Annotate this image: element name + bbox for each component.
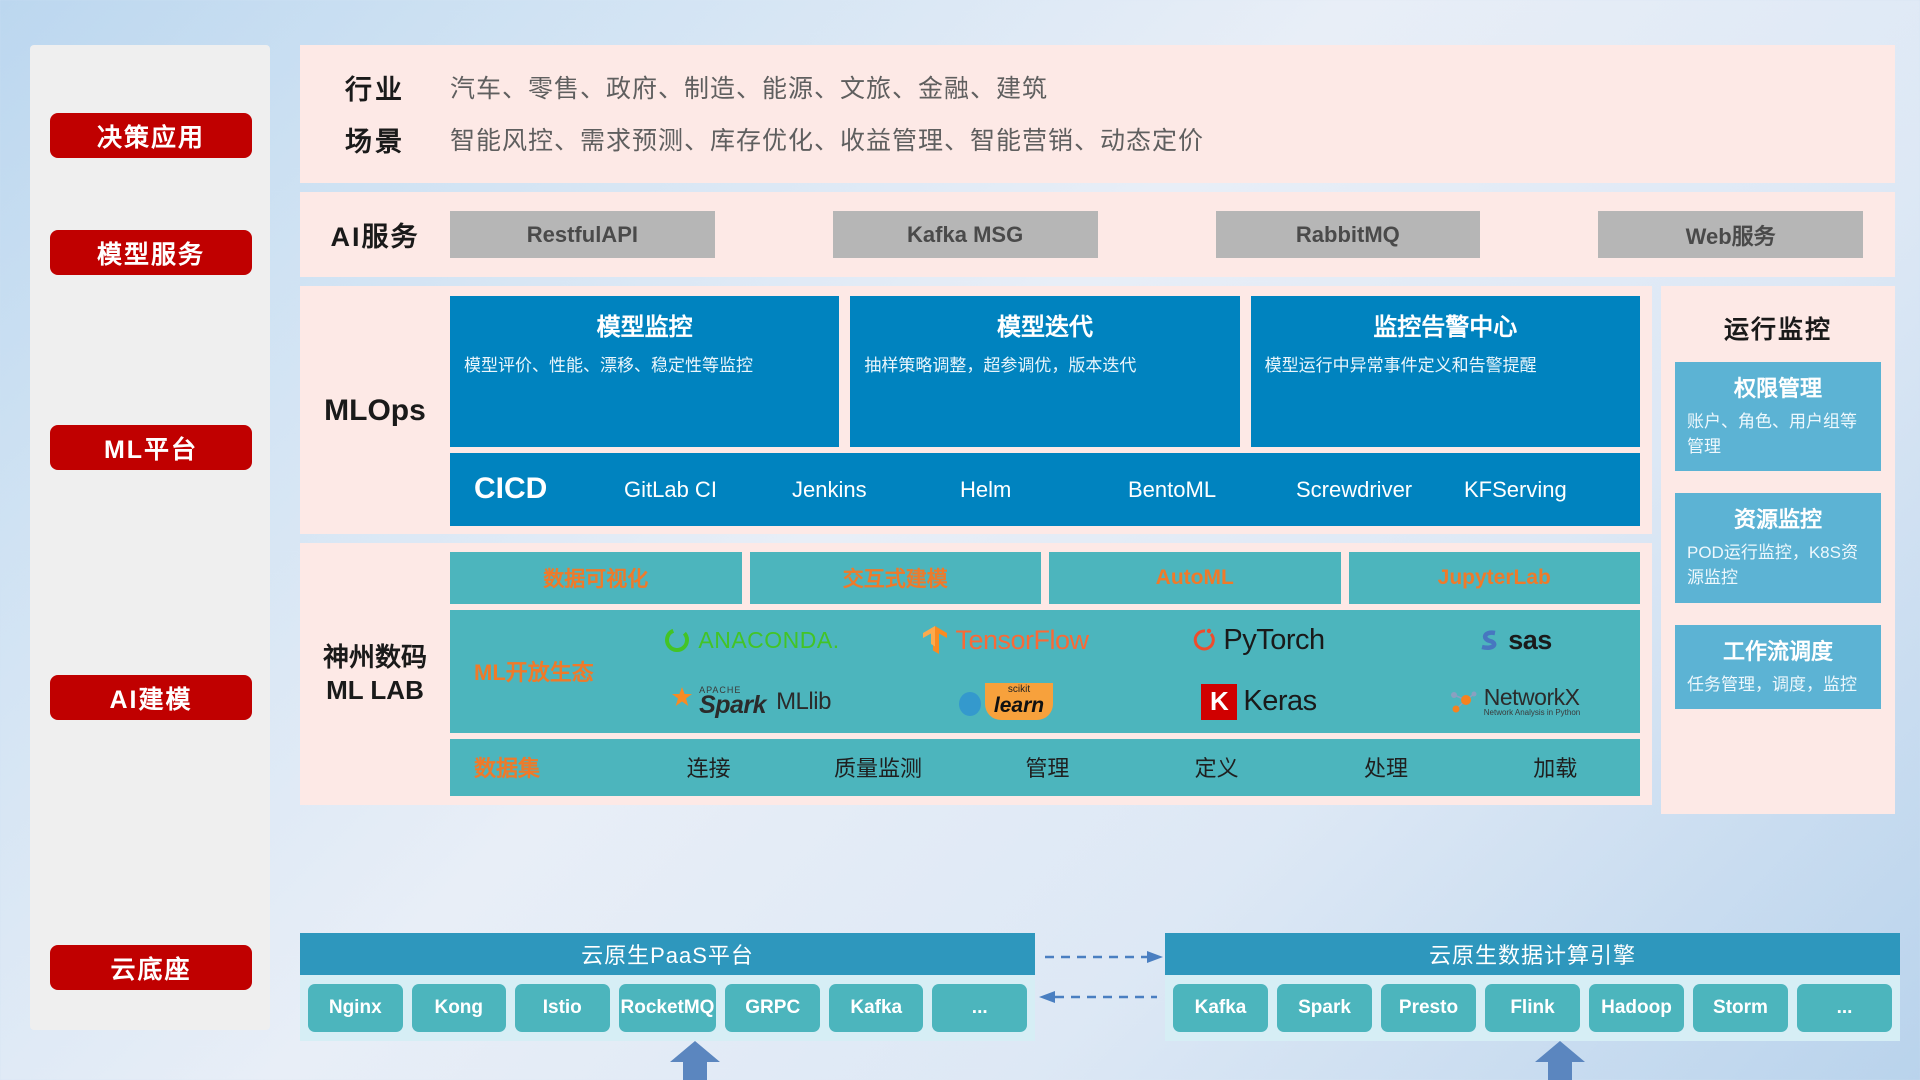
card-title: 模型迭代 (864, 307, 1225, 342)
networkx-logo: NetworkX Network Analysis in Python (1446, 686, 1581, 717)
dataset-item-list: 连接 质量监测 管理 定义 处理 加载 (624, 751, 1640, 783)
stage-pill-ai-modeling[interactable]: AI建模 (50, 675, 252, 720)
paas-title: 云原生PaaS平台 (300, 933, 1035, 975)
card-desc: 模型评价、性能、漂移、稳定性等监控 (464, 354, 825, 379)
rail-card-resource-monitoring[interactable]: 资源监控 POD运行监控，K8S资源监控 (1675, 493, 1881, 602)
scenario-row: 场景 智能风控、需求预测、库存优化、收益管理、智能营销、动态定价 (300, 113, 1895, 165)
stage-pill-label: AI建模 (109, 680, 192, 716)
card-title: 监控告警中心 (1265, 307, 1626, 342)
stage-pill-ml-platform[interactable]: ML平台 (50, 425, 252, 470)
dataset-row: 数据集 连接 质量监测 管理 定义 处理 加载 (450, 739, 1640, 797)
ai-service-chip-web-service[interactable]: Web服务 (1598, 211, 1863, 258)
ml-ecosystem-title: ML开放生态 (474, 655, 624, 687)
compute-tile-flink[interactable]: Flink (1485, 984, 1580, 1032)
mllib-label: MLlib (776, 688, 831, 716)
industry-key: 行业 (300, 68, 450, 107)
paas-tile-istio[interactable]: Istio (515, 984, 610, 1032)
pytorch-logo: PyTorch (1193, 624, 1324, 657)
ai-service-chip-restfulapi[interactable]: RestfulAPI (450, 211, 715, 258)
ml-lab-body: 数据可视化 交互式建模 AutoML JupyterLab ML开放生态 ANA… (450, 552, 1640, 796)
compute-tile-list: Kafka Spark Presto Flink Hadoop Storm ..… (1165, 975, 1900, 1041)
networkx-label: NetworkX (1484, 686, 1580, 709)
mlops-band: MLOps 模型监控 模型评价、性能、漂移、稳定性等监控 模型迭代 抽样策略调整… (300, 286, 1652, 534)
compute-tile-kafka[interactable]: Kafka (1173, 984, 1268, 1032)
networkx-sublabel: Network Analysis in Python (1484, 709, 1581, 717)
platform-and-monitor-wrapper: MLOps 模型监控 模型评价、性能、漂移、稳定性等监控 模型迭代 抽样策略调整… (300, 286, 1895, 814)
scenario-key: 场景 (300, 120, 450, 159)
tool-chip-jupyterlab[interactable]: JupyterLab (1349, 552, 1641, 604)
dataset-item-define[interactable]: 定义 (1132, 751, 1301, 783)
compute-tile-spark[interactable]: Spark (1277, 984, 1372, 1032)
mlops-label: MLOps (300, 296, 450, 526)
architecture-main-stack: 行业 汽车、零售、政府、制造、能源、文旅、金融、建筑 场景 智能风控、需求预测、… (300, 45, 1895, 814)
paas-tile-more[interactable]: ... (932, 984, 1027, 1032)
compute-tile-more[interactable]: ... (1797, 984, 1892, 1032)
sas-logo: sas (1474, 625, 1552, 656)
industry-scenario-band: 行业 汽车、零售、政府、制造、能源、文旅、金融、建筑 场景 智能风控、需求预测、… (300, 45, 1895, 183)
dataset-item-load[interactable]: 加载 (1471, 751, 1640, 783)
compute-tile-presto[interactable]: Presto (1381, 984, 1476, 1032)
card-desc: 账户、角色、用户组等管理 (1687, 410, 1869, 459)
stage-label-column: 决策应用 模型服务 ML平台 AI建模 云底座 (30, 45, 270, 1030)
stage-pill-label: 模型服务 (97, 235, 205, 271)
stage-pill-label: ML平台 (104, 430, 198, 466)
ml-ecosystem-logo-grid: ANACONDA. TensorFlow PyTorch (624, 610, 1640, 733)
keras-logo: K Keras (1201, 684, 1316, 720)
industry-value: 汽车、零售、政府、制造、能源、文旅、金融、建筑 (450, 69, 1048, 105)
ai-service-chip-rabbitmq[interactable]: RabbitMQ (1216, 211, 1481, 258)
stage-pill-label: 云底座 (110, 950, 191, 986)
scikit-learn-logo: scikit learn (957, 683, 1053, 720)
scikit-learn-label: learn (994, 695, 1044, 716)
dataset-item-process[interactable]: 处理 (1301, 751, 1470, 783)
stage-pill-cloud-base[interactable]: 云底座 (50, 945, 252, 990)
paas-tile-kong[interactable]: Kong (412, 984, 507, 1032)
dataset-item-manage[interactable]: 管理 (963, 751, 1132, 783)
tool-chip-automl[interactable]: AutoML (1049, 552, 1341, 604)
card-title: 权限管理 (1687, 371, 1869, 403)
mlops-card-list: 模型监控 模型评价、性能、漂移、稳定性等监控 模型迭代 抽样策略调整，超参调优，… (450, 296, 1640, 447)
card-desc: 任务管理，调度，监控 (1687, 673, 1869, 698)
pytorch-label: PyTorch (1223, 624, 1324, 657)
stage-pill-decision-app[interactable]: 决策应用 (50, 113, 252, 158)
ml-lab-band: 神州数码 ML LAB 数据可视化 交互式建模 AutoML JupyterLa… (300, 543, 1652, 805)
ml-lab-label: 神州数码 ML LAB (300, 552, 450, 796)
card-title: 模型监控 (464, 307, 825, 342)
ml-lab-label-line2: ML LAB (326, 674, 424, 707)
cicd-bar: CICD GitLab CI Jenkins Helm BentoML Scre… (450, 453, 1640, 526)
ai-service-label: AI服务 (300, 215, 450, 254)
anaconda-label: ANACONDA. (698, 627, 839, 654)
mlops-card-alert-center[interactable]: 监控告警中心 模型运行中异常事件定义和告警提醒 (1251, 296, 1640, 447)
card-title: 工作流调度 (1687, 634, 1869, 666)
cicd-item-kfserving[interactable]: KFServing (1464, 478, 1632, 501)
spark-label: Spark (699, 695, 766, 716)
ai-service-band: AI服务 RestfulAPI Kafka MSG RabbitMQ Web服务 (300, 192, 1895, 277)
runtime-monitor-title: 运行监控 (1675, 310, 1881, 346)
keras-mark: K (1201, 684, 1237, 720)
stage-pill-model-service[interactable]: 模型服务 (50, 230, 252, 275)
platform-column: MLOps 模型监控 模型评价、性能、漂移、稳定性等监控 模型迭代 抽样策略调整… (300, 286, 1652, 814)
tensorflow-label: TensorFlow (955, 625, 1088, 656)
ml-lab-label-line1: 神州数码 (323, 641, 427, 674)
paas-tile-list: Nginx Kong Istio RocketMQ GRPC Kafka ... (300, 975, 1035, 1041)
spark-mllib-logo: APACHE Spark MLlib (671, 686, 831, 718)
tool-chip-data-visualization[interactable]: 数据可视化 (450, 552, 742, 604)
scenario-value: 智能风控、需求预测、库存优化、收益管理、智能营销、动态定价 (450, 121, 1204, 157)
dataset-item-connect[interactable]: 连接 (624, 751, 793, 783)
anaconda-logo: ANACONDA. (662, 625, 839, 655)
ai-service-chip-kafka-msg[interactable]: Kafka MSG (833, 211, 1098, 258)
cicd-item-jenkins[interactable]: Jenkins (792, 478, 960, 501)
dataset-item-quality-monitoring[interactable]: 质量监测 (793, 751, 962, 783)
cicd-item-list: GitLab CI Jenkins Helm BentoML Screwdriv… (624, 478, 1632, 501)
ml-ecosystem-row: ML开放生态 ANACONDA. TensorFlow (450, 610, 1640, 733)
cicd-title: CICD (474, 472, 624, 506)
ml-lab-tool-list: 数据可视化 交互式建模 AutoML JupyterLab (450, 552, 1640, 604)
sas-label: sas (1508, 625, 1552, 656)
cicd-item-helm[interactable]: Helm (960, 478, 1128, 501)
runtime-monitor-rail: 运行监控 权限管理 账户、角色、用户组等管理 资源监控 POD运行监控，K8S资… (1661, 286, 1895, 814)
rail-card-workflow-scheduling[interactable]: 工作流调度 任务管理，调度，监控 (1675, 625, 1881, 710)
cloud-foundation-section: 云原生PaaS平台 Nginx Kong Istio RocketMQ GRPC… (300, 866, 1900, 1041)
card-desc: 模型运行中异常事件定义和告警提醒 (1265, 354, 1626, 379)
card-desc: 抽样策略调整，超参调优，版本迭代 (864, 354, 1225, 379)
dataset-title: 数据集 (474, 751, 624, 783)
mlops-body: 模型监控 模型评价、性能、漂移、稳定性等监控 模型迭代 抽样策略调整，超参调优，… (450, 296, 1640, 526)
mlops-card-model-monitoring[interactable]: 模型监控 模型评价、性能、漂移、稳定性等监控 (450, 296, 839, 447)
industry-row: 行业 汽车、零售、政府、制造、能源、文旅、金融、建筑 (300, 61, 1895, 113)
compute-tile-hadoop[interactable]: Hadoop (1589, 984, 1684, 1032)
cicd-item-gitlab-ci[interactable]: GitLab CI (624, 478, 792, 501)
card-desc: POD运行监控，K8S资源监控 (1687, 541, 1869, 590)
paas-box: 云原生PaaS平台 Nginx Kong Istio RocketMQ GRPC… (300, 933, 1035, 1041)
tool-chip-interactive-modeling[interactable]: 交互式建模 (750, 552, 1042, 604)
cicd-item-bentoml[interactable]: BentoML (1128, 478, 1296, 501)
compute-tile-storm[interactable]: Storm (1693, 984, 1788, 1032)
stage-pill-label: 决策应用 (97, 118, 205, 154)
cicd-item-screwdriver[interactable]: Screwdriver (1296, 478, 1464, 501)
ai-service-chip-list: RestfulAPI Kafka MSG RabbitMQ Web服务 (450, 211, 1895, 258)
tensorflow-logo: TensorFlow (921, 624, 1088, 656)
paas-tile-nginx[interactable]: Nginx (308, 984, 403, 1032)
paas-tile-grpc[interactable]: GRPC (725, 984, 820, 1032)
card-title: 资源监控 (1687, 502, 1869, 534)
paas-tile-rocketmq[interactable]: RocketMQ (619, 984, 717, 1032)
mlops-card-model-iteration[interactable]: 模型迭代 抽样策略调整，超参调优，版本迭代 (850, 296, 1239, 447)
bidirectional-link (1035, 941, 1165, 1041)
compute-box: 云原生数据计算引擎 Kafka Spark Presto Flink Hadoo… (1165, 933, 1900, 1041)
compute-title: 云原生数据计算引擎 (1165, 933, 1900, 975)
keras-label: Keras (1243, 685, 1316, 718)
rail-card-permission-management[interactable]: 权限管理 账户、角色、用户组等管理 (1675, 362, 1881, 471)
paas-tile-kafka[interactable]: Kafka (829, 984, 924, 1032)
